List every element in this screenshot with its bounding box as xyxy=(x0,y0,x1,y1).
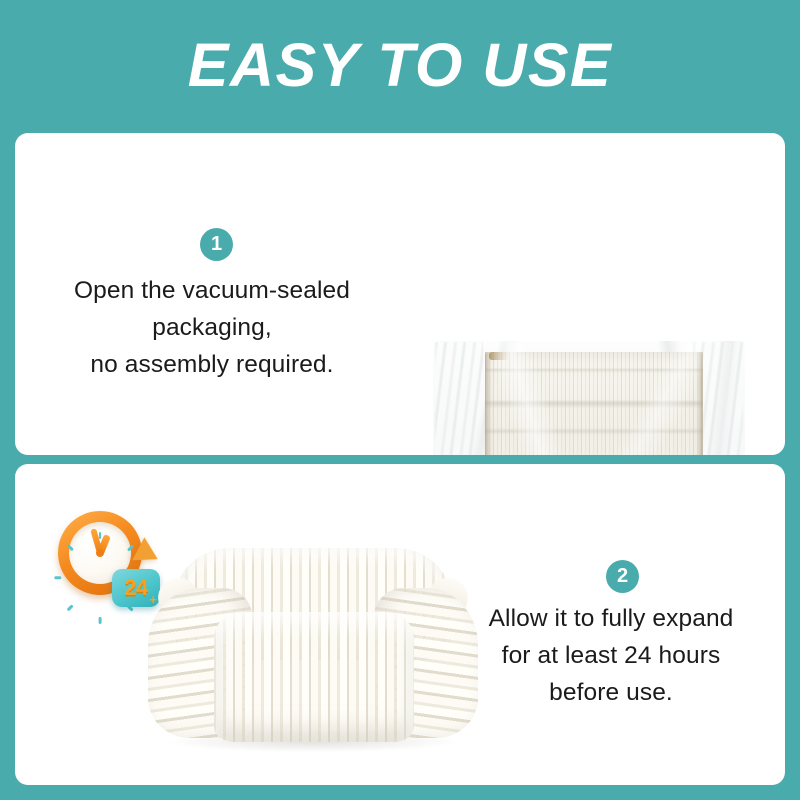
sofa-seat-cushion xyxy=(214,612,414,742)
step-1-line-2: packaging, xyxy=(28,309,396,346)
hours-badge: 24 + xyxy=(112,569,160,607)
step-2-line-2: for at least 24 hours xyxy=(450,637,772,674)
step-1-line-3: no assembly required. xyxy=(28,346,396,383)
step-2-line-1: Allow it to fully expand xyxy=(450,600,772,637)
block-corner-top-left xyxy=(489,352,509,360)
step-1-number-badge: 1 xyxy=(200,228,233,261)
infographic-page: EASY TO USE 1 Open the vacuum-sealed pac… xyxy=(0,0,800,800)
step-2-product-image xyxy=(148,540,478,754)
clock-center-hub xyxy=(96,549,104,557)
24-hour-clock-icon: 24 + xyxy=(56,503,160,607)
step-2-number-badge: 2 xyxy=(606,560,639,593)
step-2-line-3: before use. xyxy=(450,674,772,711)
step-2-text: Allow it to fully expand for at least 24… xyxy=(450,600,772,711)
clock-tick xyxy=(99,617,102,624)
step-1-text: Open the vacuum-sealed packaging, no ass… xyxy=(28,272,396,383)
clock-tick xyxy=(54,577,61,580)
hours-badge-suffix: + xyxy=(149,593,157,606)
step-1-product-image xyxy=(433,341,745,455)
block-edge-left xyxy=(485,352,491,455)
block-edge-right xyxy=(697,352,703,455)
compressed-bed-block xyxy=(485,352,703,455)
plastic-crinkle-left xyxy=(435,342,483,455)
step-1-line-1: Open the vacuum-sealed xyxy=(28,272,396,309)
page-title: EASY TO USE xyxy=(0,33,800,97)
